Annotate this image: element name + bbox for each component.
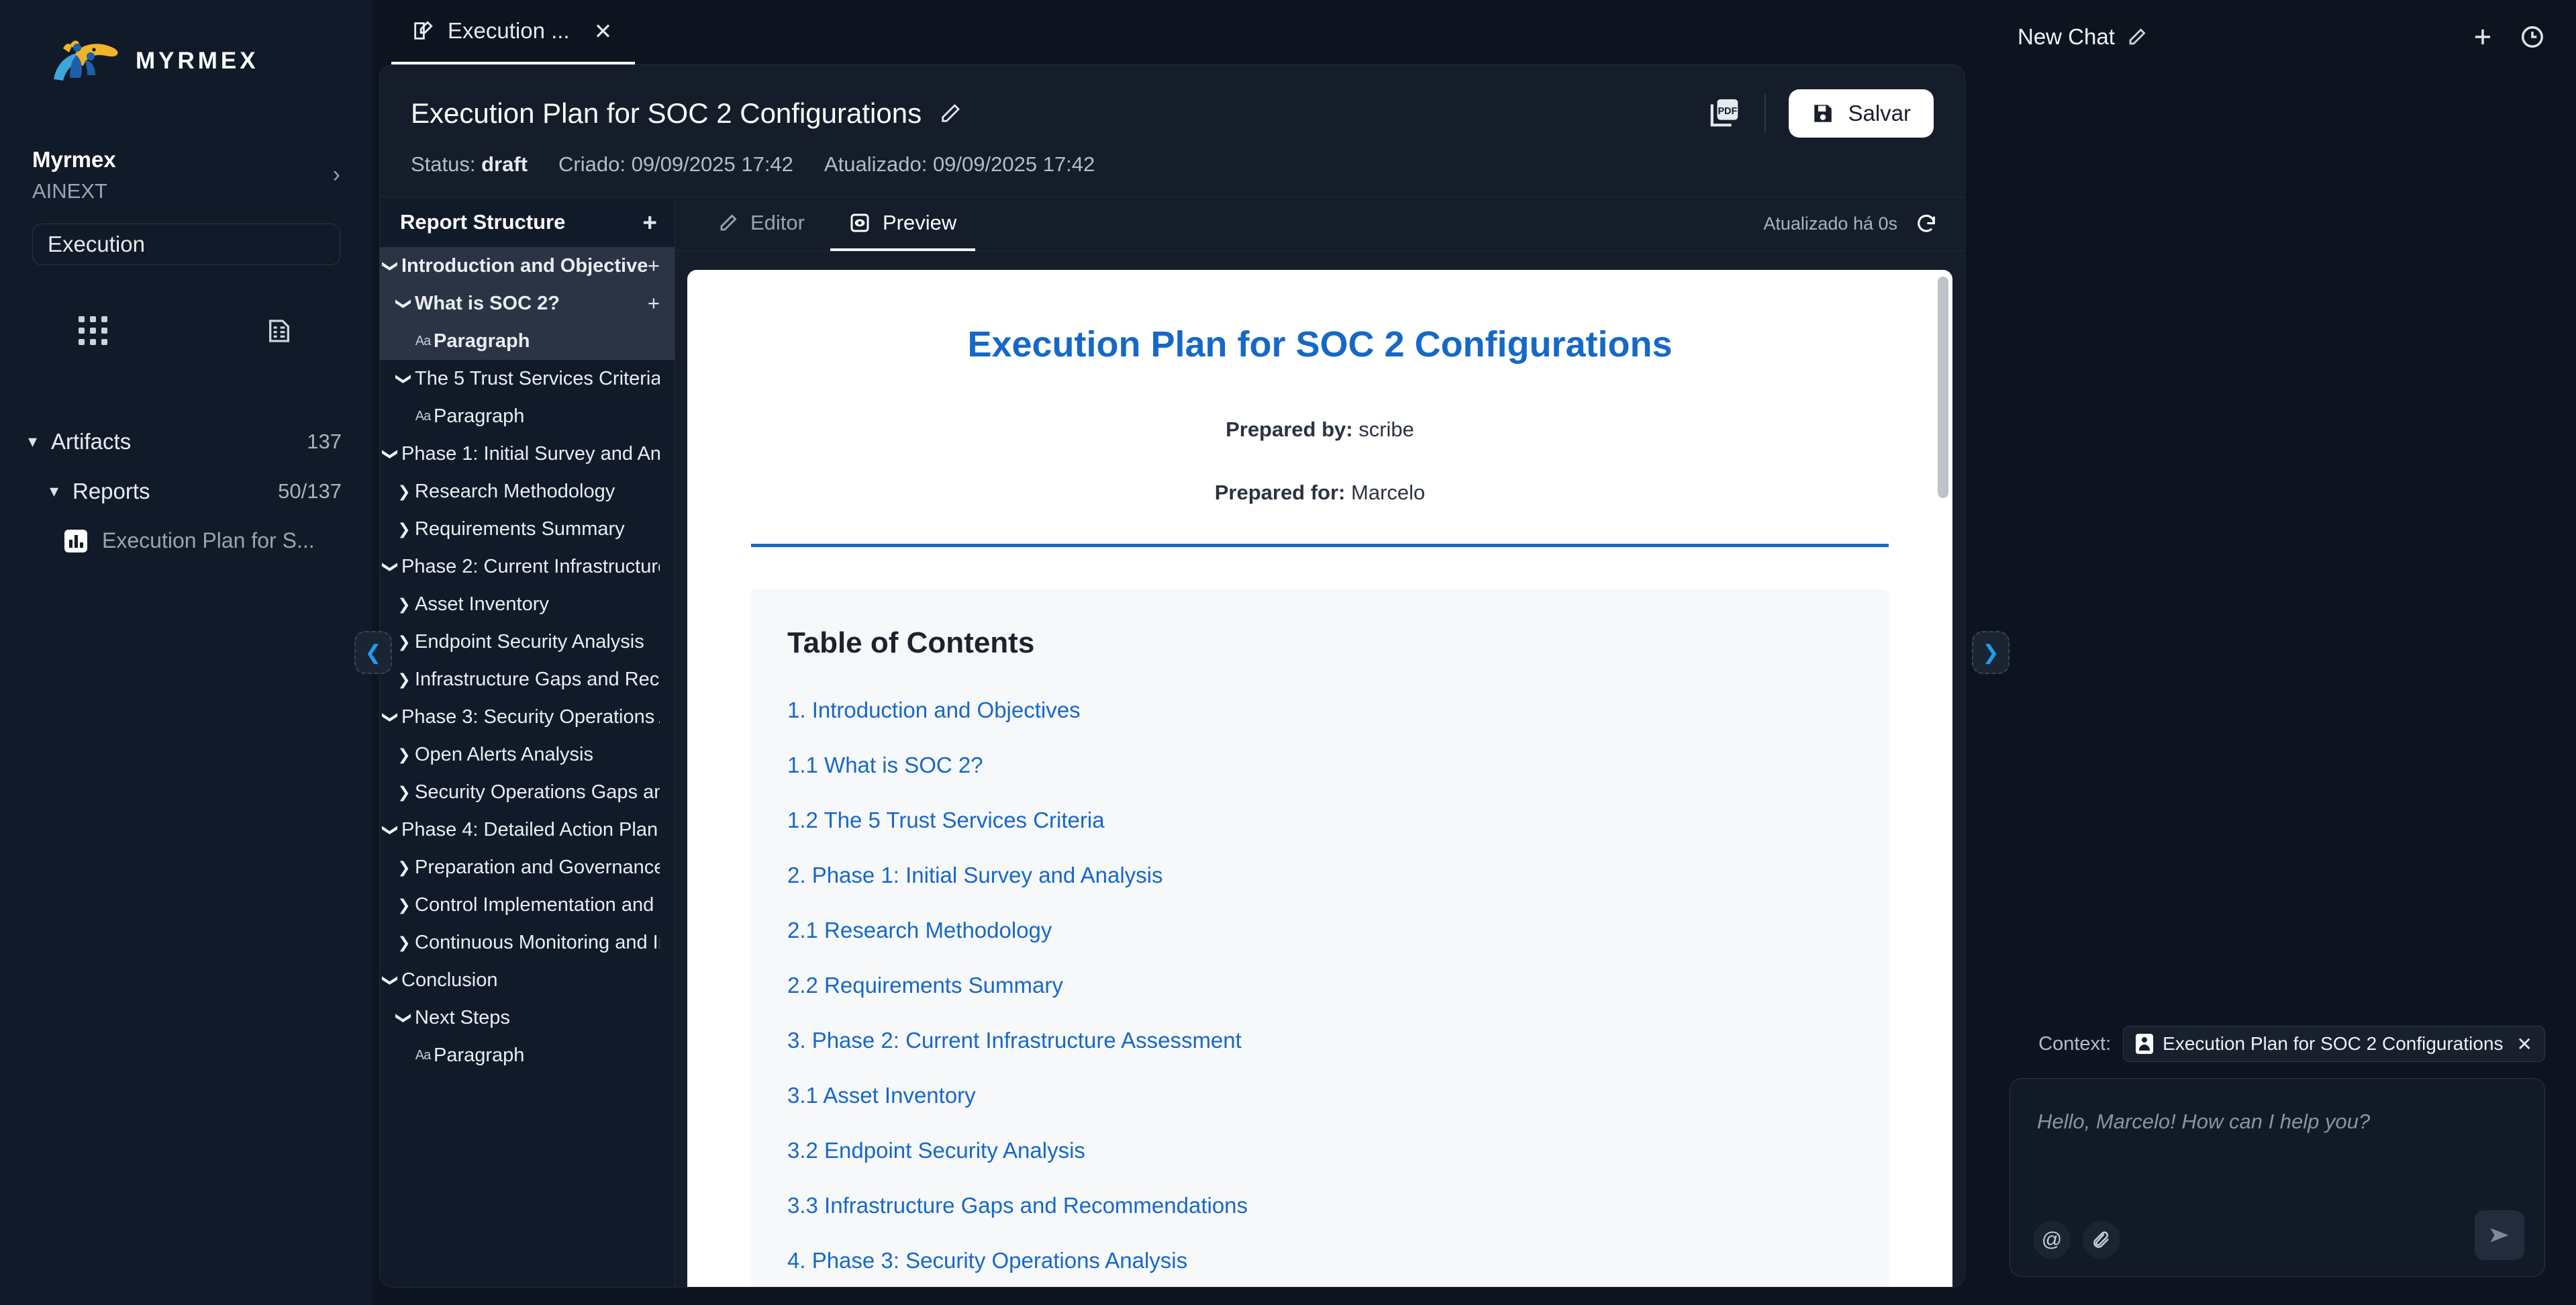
toc-link[interactable]: 1.2 The 5 Trust Services Criteria — [787, 808, 1852, 833]
preview-status: Atualizado há 0s — [1763, 213, 1965, 236]
artifacts-tree: ▾ Artifacts 137 ▾ Reports 50/137 Executi… — [0, 417, 373, 566]
structure-item-label: Infrastructure Gaps and Recom... — [415, 669, 660, 691]
chevron-down-icon: ▾ — [28, 431, 51, 452]
contact-badge-icon — [2136, 1034, 2153, 1054]
created-value: 09/09/2025 17:42 — [632, 152, 793, 176]
preview-surface: Execution Plan for SOC 2 Configurations … — [675, 251, 1965, 1287]
created-meta: Criado: 09/09/2025 17:42 — [558, 152, 793, 177]
toc-link[interactable]: 3.1 Asset Inventory — [787, 1083, 1852, 1108]
tab-editor-label: Editor — [750, 211, 805, 235]
report-divider — [751, 544, 1889, 547]
tab-editor[interactable]: Editor — [699, 197, 824, 251]
document-meta: Status: draft Criado: 09/09/2025 17:42 A… — [411, 152, 1934, 177]
structure-item-label: Requirements Summary — [415, 518, 660, 540]
structure-item-label: Phase 2: Current Infrastructure Ass... — [401, 556, 660, 578]
chevron-right-icon[interactable]: ❯ — [393, 595, 415, 614]
save-button-label: Salvar — [1848, 101, 1911, 126]
close-icon[interactable]: ✕ — [594, 18, 613, 44]
updated-value: 09/09/2025 17:42 — [933, 152, 1095, 176]
eye-icon — [849, 212, 871, 234]
workspace-subtitle: AINEXT — [32, 178, 116, 205]
tab-preview-label: Preview — [883, 211, 956, 235]
chevron-right-icon: › — [333, 163, 340, 186]
document-list-icon — [266, 318, 293, 344]
floppy-disk-icon — [1812, 102, 1834, 125]
tab-preview[interactable]: Preview — [830, 197, 975, 251]
chevron-right-icon: ❯ — [1982, 641, 1999, 665]
structure-item-label: Next Steps — [415, 1007, 660, 1029]
report-content: Execution Plan for SOC 2 Configurations … — [687, 270, 1952, 1287]
structure-item[interactable]: ❯Continuous Monitoring and Inter... — [380, 924, 675, 961]
chevron-right-icon[interactable]: ❯ — [393, 783, 415, 802]
structure-item-label: Paragraph — [434, 330, 660, 352]
created-label: Criado: — [558, 152, 626, 176]
svg-text:PDF: PDF — [1718, 106, 1738, 117]
edit-document-icon — [411, 19, 434, 42]
paragraph-icon: Aa — [412, 409, 434, 424]
chevron-right-icon[interactable]: ❯ — [393, 483, 415, 501]
toc-link[interactable]: 2.2 Requirements Summary — [787, 973, 1852, 998]
structure-item[interactable]: ❯Phase 2: Current Infrastructure Ass... — [380, 548, 675, 585]
composer-tools: @ — [2033, 1221, 2120, 1259]
view-mode-row — [0, 304, 373, 358]
structure-item-label: Paragraph — [434, 1045, 660, 1067]
structure-item[interactable]: ❯Phase 3: Security Operations Analy... — [380, 698, 675, 736]
chevron-right-icon[interactable]: ❯ — [393, 896, 415, 914]
structure-item[interactable]: ❯Conclusion — [380, 961, 675, 999]
prepared-for-value: Marcelo — [1351, 481, 1425, 504]
chat-input-placeholder: Hello, Marcelo! How can I help you? — [2037, 1110, 2518, 1134]
preview-tab-bar: Editor Preview — [675, 197, 1965, 251]
toc-link[interactable]: 3.3 Infrastructure Gaps and Recommendati… — [787, 1193, 1852, 1218]
structure-item-label: Open Alerts Analysis — [415, 744, 660, 766]
updated-label: Atualizado: — [824, 152, 927, 176]
status-badge: Status: draft — [411, 152, 528, 177]
app-root: MYRMEX Myrmex AINEXT › Execution — [0, 0, 2576, 1305]
chevron-down-icon[interactable]: ❯ — [382, 255, 400, 277]
sidebar-item-label: Artifacts — [51, 429, 307, 454]
structure-item[interactable]: ❯Security Operations Gaps and R... — [380, 773, 675, 811]
grid-view-button[interactable] — [0, 304, 187, 358]
sidebar-item-reports[interactable]: ▾ Reports 50/137 — [0, 467, 373, 516]
prepared-by: Prepared by: scribe — [687, 418, 1952, 442]
chat-messages — [1979, 74, 2576, 1026]
toc-link[interactable]: 2.1 Research Methodology — [787, 918, 1852, 943]
chevron-down-icon: ▾ — [50, 481, 72, 501]
status-label: Status: — [411, 152, 476, 176]
structure-item[interactable]: ❯Next Steps — [380, 999, 675, 1036]
toc-heading: Table of Contents — [787, 626, 1852, 660]
context-row: Context: Execution Plan for SOC 2 Config… — [1979, 1026, 2576, 1062]
close-icon[interactable]: ✕ — [2517, 1033, 2532, 1055]
preview-column: Editor Preview — [675, 197, 1965, 1287]
at-icon[interactable]: @ — [2033, 1221, 2071, 1259]
structure-item-label: Phase 1: Initial Survey and Analysis — [401, 443, 660, 465]
structure-item[interactable]: ❯What is SOC 2?+ — [380, 285, 675, 322]
structure-item-label: Paragraph — [434, 405, 660, 428]
structure-item[interactable]: ❯Introduction and Objectives+ — [380, 247, 675, 285]
structure-item[interactable]: AaParagraph — [380, 322, 675, 360]
preview-scrollbar[interactable] — [1938, 270, 1948, 1287]
toc-link[interactable]: 3. Phase 2: Current Infrastructure Asses… — [787, 1028, 1852, 1053]
grid-icon — [79, 316, 107, 345]
plus-icon[interactable]: + — [642, 210, 657, 235]
prepared-for-label: Prepared for: — [1215, 481, 1346, 504]
structure-item-label: Conclusion — [401, 969, 660, 992]
structure-item[interactable]: ❯Research Methodology — [380, 473, 675, 510]
plus-icon[interactable] — [2470, 24, 2495, 50]
search-input[interactable]: Execution — [32, 224, 340, 265]
table-of-contents: Table of Contents 1. Introduction and Ob… — [751, 589, 1889, 1287]
report-structure-header: Report Structure + — [380, 197, 675, 247]
plus-icon[interactable]: + — [648, 291, 660, 316]
list-view-button[interactable] — [187, 304, 373, 358]
left-sidebar: MYRMEX Myrmex AINEXT › Execution — [0, 0, 373, 1305]
structure-item[interactable]: ❯Preparation and Governance Ph... — [380, 849, 675, 886]
brand-wordmark: MYRMEX — [136, 48, 259, 75]
collapse-right-handle[interactable]: ❯ — [1972, 631, 2010, 674]
structure-item-label: Control Implementation and Re... — [415, 894, 660, 916]
context-chip-label: Execution Plan for SOC 2 Configurations — [2163, 1033, 2503, 1055]
structure-item[interactable]: ❯Phase 1: Initial Survey and Analysis — [380, 435, 675, 473]
anteater-logo-icon — [50, 38, 125, 85]
chevron-down-icon[interactable]: ❯ — [395, 1007, 413, 1028]
divider — [1765, 94, 1766, 133]
structure-item[interactable]: ❯Requirements Summary — [380, 510, 675, 548]
send-button[interactable] — [2475, 1210, 2524, 1260]
chevron-left-icon: ❮ — [364, 641, 381, 665]
structure-item-label: What is SOC 2? — [415, 293, 648, 315]
document-header: Execution Plan for SOC 2 Configurations — [380, 65, 1965, 197]
chevron-right-icon[interactable]: ❯ — [393, 633, 415, 651]
workspace-name: Myrmex — [32, 145, 116, 175]
paragraph-icon: Aa — [412, 1048, 434, 1063]
structure-item-label: Introduction and Objectives — [401, 255, 648, 277]
structure-item[interactable]: ❯Asset Inventory — [380, 585, 675, 623]
workspace-switcher[interactable]: Myrmex AINEXT › — [0, 145, 373, 205]
toc-link[interactable]: 3.2 Endpoint Security Analysis — [787, 1138, 1852, 1163]
chevron-right-icon[interactable]: ❯ — [393, 859, 415, 877]
paragraph-icon: Aa — [412, 334, 434, 349]
report-structure-panel: Report Structure + ❯Introduction and Obj… — [380, 197, 675, 1287]
tab-label: Execution ... — [448, 18, 570, 44]
preview-scrollbar-thumb[interactable] — [1938, 277, 1948, 498]
chevron-right-icon[interactable]: ❯ — [393, 934, 415, 952]
structure-item-label: Preparation and Governance Ph... — [415, 857, 660, 879]
structure-item[interactable]: AaParagraph — [380, 1036, 675, 1074]
structure-item-label: Phase 4: Detailed Action Plan — [401, 819, 660, 841]
toc-list: 1. Introduction and Objectives1.1 What i… — [787, 697, 1852, 1287]
brand: MYRMEX — [0, 0, 373, 85]
bar-chart-icon — [64, 530, 87, 552]
prepared-by-value: scribe — [1358, 418, 1414, 441]
chat-header: New Chat — [1979, 0, 2576, 74]
sidebar-item-label: Reports — [72, 479, 278, 504]
structure-item-label: Phase 3: Security Operations Analy... — [401, 706, 660, 728]
structure-item-label: The 5 Trust Services Criteria — [415, 368, 660, 390]
structure-item[interactable]: AaParagraph — [380, 397, 675, 435]
structure-item[interactable]: ❯Phase 4: Detailed Action Plan — [380, 811, 675, 849]
clock-icon[interactable] — [2520, 24, 2545, 50]
report-paper: Execution Plan for SOC 2 Configurations … — [687, 270, 1952, 1287]
chevron-right-icon[interactable]: ❯ — [393, 520, 415, 538]
toc-link[interactable]: 2. Phase 1: Initial Survey and Analysis — [787, 863, 1852, 888]
chevron-down-icon[interactable]: ❯ — [382, 706, 400, 728]
chat-panel: New Chat Context: Execution Plan for SOC… — [1979, 0, 2576, 1305]
pencil-icon — [718, 213, 738, 233]
context-chip[interactable]: Execution Plan for SOC 2 Configurations … — [2123, 1026, 2545, 1062]
search-area: Execution — [0, 205, 373, 265]
tab-bar: Execution ... ✕ — [373, 0, 1979, 64]
report-title: Execution Plan for SOC 2 Configurations — [687, 324, 1952, 365]
reports-count: 50/137 — [278, 479, 342, 503]
chevron-down-icon[interactable]: ❯ — [382, 819, 400, 840]
search-input-value: Execution — [48, 232, 145, 257]
pencil-icon[interactable] — [2127, 27, 2147, 47]
collapse-left-handle[interactable]: ❮ — [354, 631, 392, 674]
pencil-icon[interactable] — [939, 102, 962, 125]
structure-item[interactable]: ❯The 5 Trust Services Criteria — [380, 360, 675, 397]
toc-link[interactable]: 4. Phase 3: Security Operations Analysis — [787, 1248, 1852, 1273]
structure-item-label: Research Methodology — [415, 481, 660, 503]
save-button[interactable]: Salvar — [1789, 89, 1934, 138]
pdf-icon[interactable]: PDF — [1708, 97, 1742, 130]
prepared-by-label: Prepared by: — [1226, 418, 1353, 441]
center-column: Execution ... ✕ Execution Plan for SOC 2… — [373, 0, 1979, 1305]
structure-item-label: Continuous Monitoring and Inter... — [415, 932, 660, 954]
structure-item[interactable]: ❯Infrastructure Gaps and Recom... — [380, 661, 675, 698]
chevron-right-icon[interactable]: ❯ — [393, 746, 415, 764]
structure-item-label: Security Operations Gaps and R... — [415, 781, 660, 804]
chevron-down-icon[interactable]: ❯ — [382, 556, 400, 577]
structure-item-label: Endpoint Security Analysis — [415, 631, 660, 653]
chevron-down-icon[interactable]: ❯ — [395, 293, 413, 314]
sidebar-item-artifacts[interactable]: ▾ Artifacts 137 — [0, 417, 373, 467]
updated-status-text: Atualizado há 0s — [1763, 213, 1897, 234]
structure-list: ❯Introduction and Objectives+❯What is SO… — [380, 247, 675, 1287]
toc-link[interactable]: 1. Introduction and Objectives — [787, 697, 1852, 723]
chat-composer[interactable]: Hello, Marcelo! How can I help you? @ — [2010, 1078, 2545, 1277]
sidebar-item-execution-plan[interactable]: Execution Plan for S... — [0, 516, 373, 566]
structure-item-label: Asset Inventory — [415, 593, 660, 616]
structure-item[interactable]: ❯Endpoint Security Analysis — [380, 623, 675, 661]
document-pane: Execution Plan for SOC 2 Configurations — [379, 64, 1965, 1288]
chevron-down-icon[interactable]: ❯ — [382, 969, 400, 991]
structure-item[interactable]: ❯Control Implementation and Re... — [380, 886, 675, 924]
status-value: draft — [481, 152, 528, 176]
paperclip-icon[interactable] — [2083, 1221, 2120, 1259]
chat-title: New Chat — [2018, 24, 2115, 50]
report-structure-title: Report Structure — [400, 210, 565, 234]
page-title: Execution Plan for SOC 2 Configurations — [411, 97, 922, 130]
chevron-down-icon[interactable]: ❯ — [382, 443, 400, 465]
chevron-right-icon[interactable]: ❯ — [393, 671, 415, 689]
structure-item[interactable]: ❯Open Alerts Analysis — [380, 736, 675, 773]
prepared-for: Prepared for: Marcelo — [687, 481, 1952, 505]
toc-link[interactable]: 1.1 What is SOC 2? — [787, 753, 1852, 778]
context-label: Context: — [2038, 1033, 2111, 1055]
refresh-icon[interactable] — [1915, 213, 1938, 236]
sidebar-item-label: Execution Plan for S... — [102, 528, 342, 553]
plus-icon[interactable]: + — [648, 254, 660, 278]
updated-meta: Atualizado: 09/09/2025 17:42 — [824, 152, 1095, 177]
chevron-down-icon[interactable]: ❯ — [395, 368, 413, 389]
artifacts-count: 137 — [307, 430, 342, 454]
tab-execution-plan[interactable]: Execution ... ✕ — [391, 0, 635, 64]
document-body: Report Structure + ❯Introduction and Obj… — [380, 197, 1965, 1287]
